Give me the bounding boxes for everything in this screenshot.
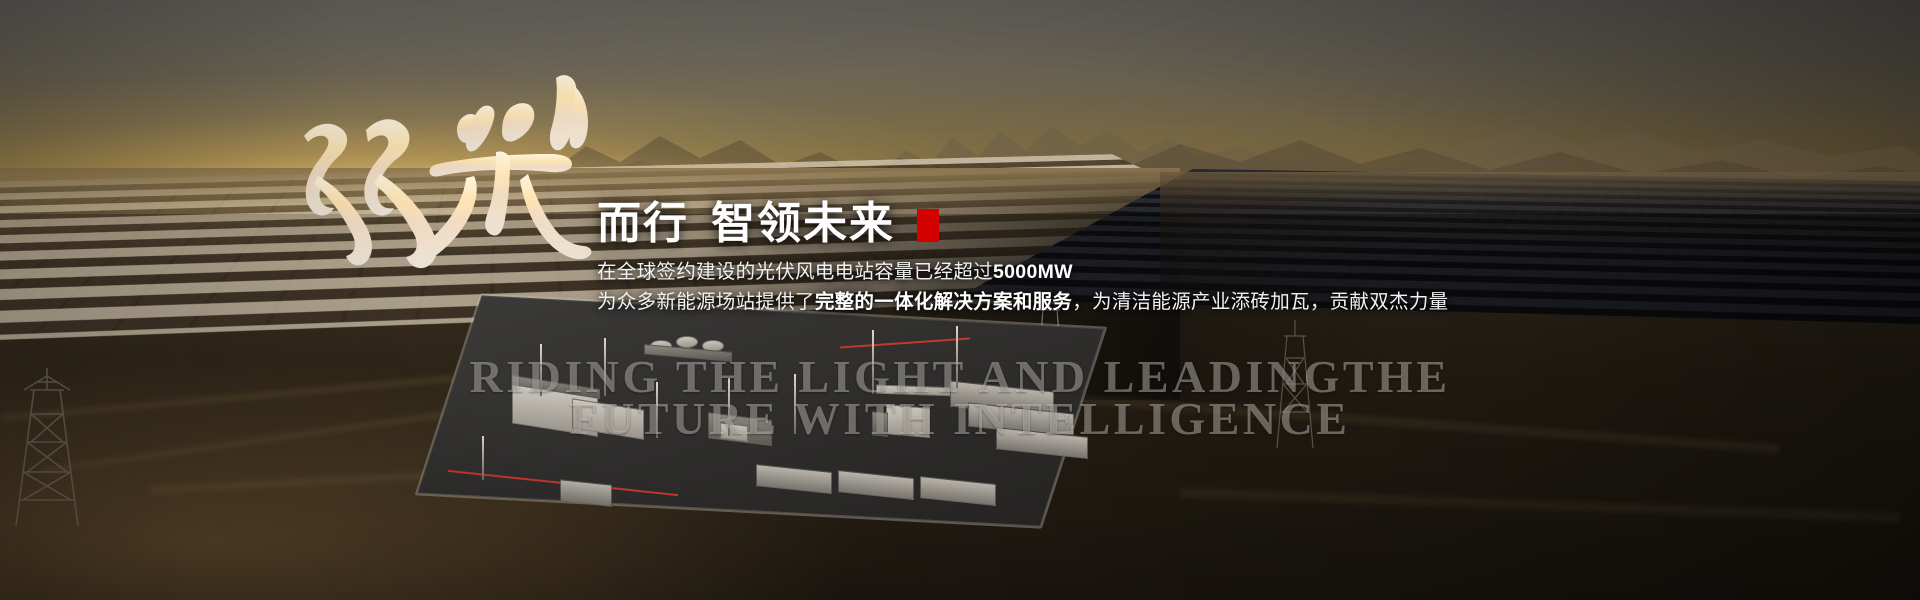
english-tagline-line-2: FUTURE WITH INTELLIGENCE bbox=[0, 396, 1920, 442]
headline-part-a: 而行 bbox=[597, 202, 689, 246]
hero-banner: 而行 智领未来 在全球签约建设的光伏风电电站容量已经超过5000MW 为众多新能… bbox=[0, 0, 1920, 600]
storage-tank bbox=[676, 336, 698, 348]
headline: 而行 智领未来 bbox=[597, 202, 939, 246]
subtitle-2-b: ，为清洁能源产业添砖加瓦，贡献双杰力量 bbox=[1072, 291, 1448, 313]
subtitle-line-1: 在全球签约建设的光伏风电电站容量已经超过5000MW bbox=[597, 255, 1073, 284]
subtitle-1-prefix: 在全球签约建设的光伏风电电站容量已经超过 bbox=[597, 261, 993, 283]
subtitle-1-capacity: 5000MW bbox=[993, 261, 1073, 283]
red-accent-block bbox=[917, 209, 939, 242]
subtitle-2-strong: 完整的一体化解决方案和服务 bbox=[815, 291, 1072, 313]
subtitle-line-2: 为众多新能源场站提供了完整的一体化解决方案和服务，为清洁能源产业添砖加瓦，贡献双… bbox=[597, 285, 1448, 314]
light-mast bbox=[482, 436, 484, 480]
subtitle-2-a: 为众多新能源场站提供了 bbox=[597, 291, 815, 313]
headline-part-b: 智领未来 bbox=[711, 202, 895, 246]
